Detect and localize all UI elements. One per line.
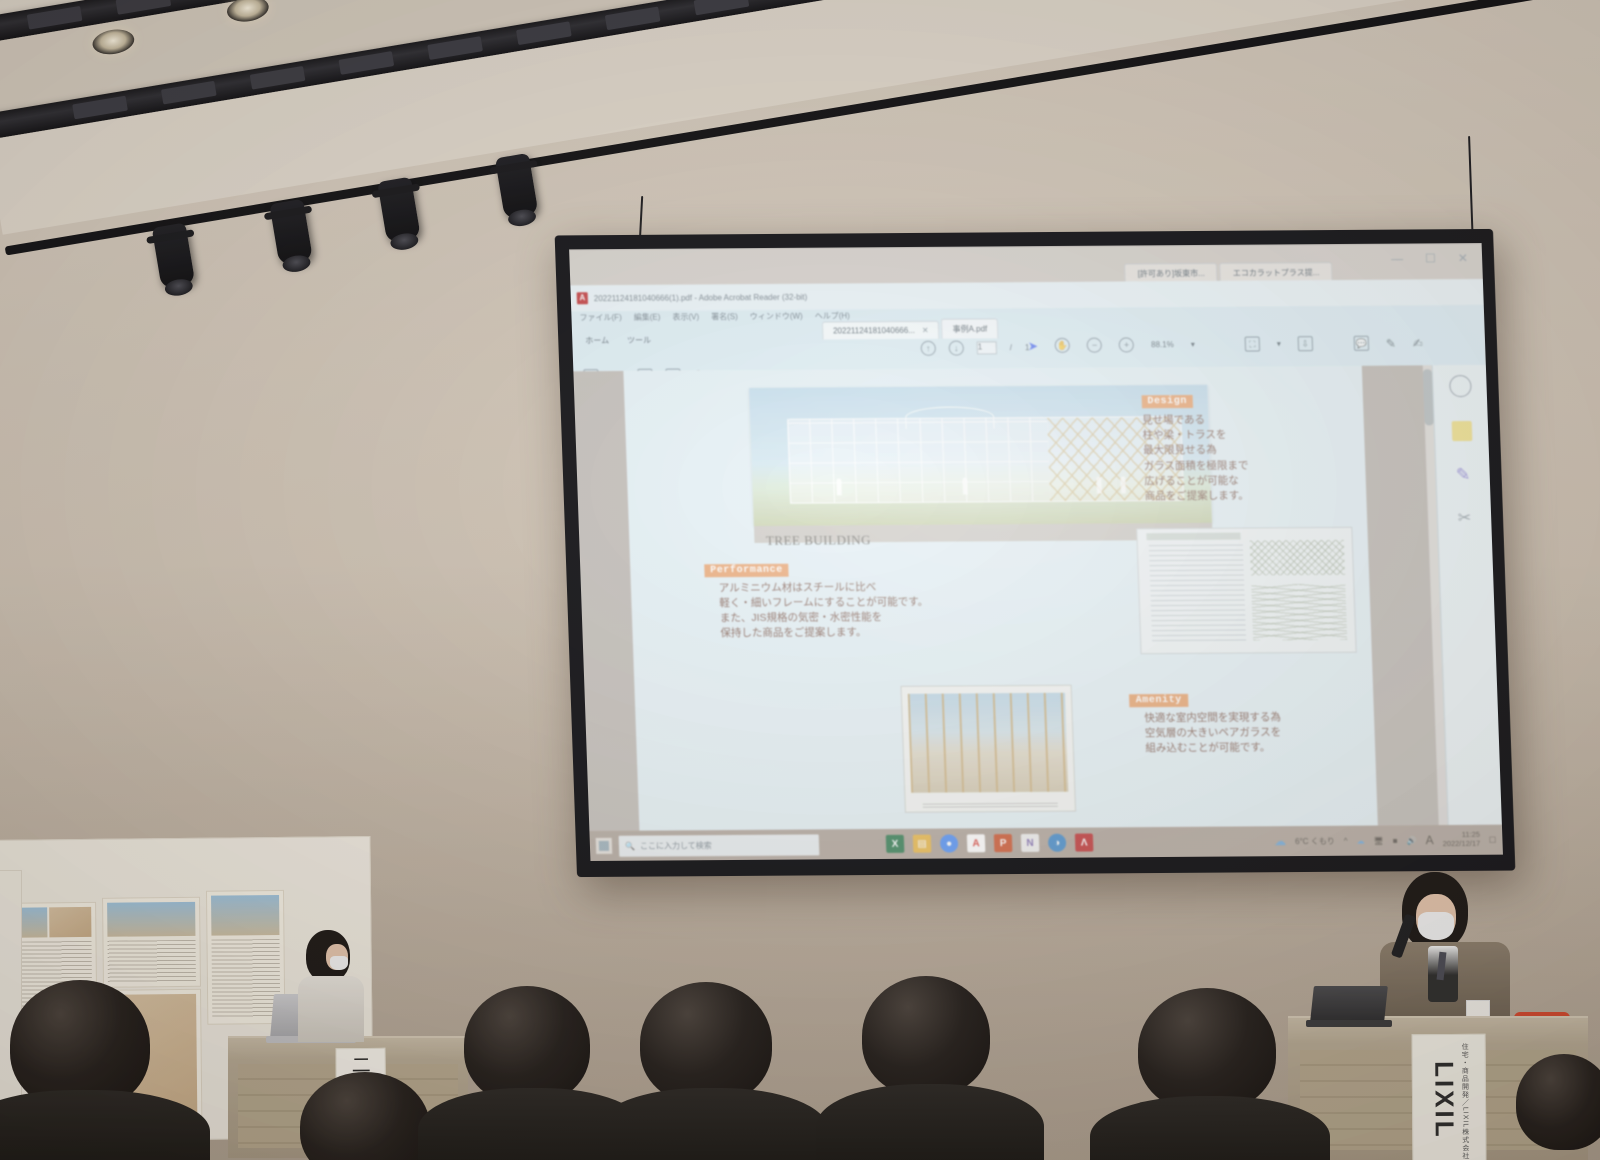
highlight-pen-icon[interactable]: ✎ xyxy=(1386,336,1397,350)
view-tool-bar: ➤ ✋ − + 88.1% ▾ xyxy=(1028,337,1195,353)
block-performance: Performance アルミニウム材はスチールに比べ 軽く・細いフレームにする… xyxy=(704,556,1091,642)
pdf-page: TREE BUILDING Design 見せ場である 柱や梁・トラスを 最大限… xyxy=(623,366,1377,831)
windows-taskbar: 🔍 ここに入力して検索 X ▤ ● A P N ◑ Λ ☁ xyxy=(589,825,1502,861)
clock[interactable]: 11:25 2022/12/17 xyxy=(1442,831,1480,849)
zoom-in-icon[interactable]: + xyxy=(1119,337,1135,352)
poster-item xyxy=(102,897,201,988)
ime-icon[interactable]: A xyxy=(1425,833,1434,847)
battery-icon[interactable]: ■ xyxy=(1393,836,1398,845)
badge-performance: Performance xyxy=(704,563,789,577)
page-navigation-bar: ↑ ↓ 1 / 1 xyxy=(921,340,1030,356)
menu-file[interactable]: ファイル(F) xyxy=(579,311,622,322)
design-text: 見せ場である 柱や梁・トラスを 最大限見せる為 ガラス面積を極限まで 広げること… xyxy=(1142,412,1352,505)
chevron-down-icon[interactable]: ▾ xyxy=(1277,339,1281,348)
close-icon[interactable]: ✕ xyxy=(922,326,929,335)
add-comment-icon[interactable] xyxy=(1451,421,1472,441)
structure-detail-sheet xyxy=(1136,527,1356,655)
close-button[interactable]: ✕ xyxy=(1458,251,1469,265)
edge-icon[interactable]: ◑ xyxy=(1048,834,1067,852)
stage-spotlight xyxy=(152,223,196,290)
search-icon: 🔍 xyxy=(625,841,635,850)
zoom-out-icon[interactable]: − xyxy=(1087,338,1103,353)
page-separator: / xyxy=(1010,343,1013,352)
interior-atrium-rendering xyxy=(900,685,1076,812)
banner-sub: 住宅・商品開発／LIXIL株式会社 xyxy=(1459,1043,1470,1160)
window-title: 20221124181040666(1).pdf - Adobe Acrobat… xyxy=(594,292,808,302)
comment-icon[interactable]: 💬 xyxy=(1353,336,1369,351)
maximize-button[interactable]: ☐ xyxy=(1425,251,1436,265)
pdf-sheet: TREE BUILDING Design 見せ場である 柱や梁・トラスを 最大限… xyxy=(623,366,1377,831)
tab-tools[interactable]: ツール xyxy=(618,332,661,349)
audience-shoulders xyxy=(1090,1096,1330,1160)
stage-spotlight xyxy=(269,199,313,266)
search-input[interactable]: 🔍 ここに入力して検索 xyxy=(619,834,820,856)
cloud-icon: ☁ xyxy=(1274,834,1286,848)
clock-date: 2022/12/17 xyxy=(1443,840,1481,849)
acrobat-logo-icon: A xyxy=(577,292,588,304)
menu-sign[interactable]: 署名(S) xyxy=(711,311,738,322)
badge-design: Design xyxy=(1141,395,1193,408)
acrobat-window: A 20221124181040666(1).pdf - Adobe Acrob… xyxy=(570,279,1501,831)
annotate-tool-bar: 💬 ✎ ✍ xyxy=(1353,335,1423,350)
banner-brand: LIXIL xyxy=(1428,1061,1460,1140)
pdf-viewport[interactable]: TREE BUILDING Design 見せ場である 柱や梁・トラスを 最大限… xyxy=(573,365,1447,831)
amenity-text: 快適な室内空間を実現する為 空気層の大きいペアガラスを 組み込むことが可能です。 xyxy=(1130,710,1368,757)
sign-icon[interactable]: ✍ xyxy=(1413,336,1424,350)
audience-head xyxy=(640,982,772,1104)
menu-bar: ファイル(F) 編集(E) 表示(V) 署名(S) ウィンドウ(W) ヘルプ(H… xyxy=(571,307,850,325)
search-placeholder: ここに入力して検索 xyxy=(640,840,712,851)
audience-head xyxy=(1516,1054,1600,1150)
weather-text[interactable]: 6°C くもり xyxy=(1295,835,1335,846)
projection-screen: — ☐ ✕ [許可あり]坂東市... エコカラットプラス提... A 20221… xyxy=(555,229,1516,877)
page-number-input[interactable]: 1 xyxy=(977,341,997,354)
display-tool-bar: ⛶ ▾ ⇩ xyxy=(1245,336,1314,351)
fit-page-icon[interactable]: ⛶ xyxy=(1245,337,1261,352)
tab-home[interactable]: ホーム xyxy=(576,332,618,349)
chrome-icon[interactable]: ● xyxy=(940,834,959,852)
search-document-icon[interactable] xyxy=(1449,375,1472,397)
photo-scene: — ☐ ✕ [許可あり]坂東市... エコカラットプラス提... A 20221… xyxy=(0,0,1600,1160)
doc-tab-jirei[interactable]: 事例A.pdf xyxy=(941,318,998,338)
edit-pdf-icon[interactable]: ✂ xyxy=(1454,509,1475,529)
chevron-down-icon[interactable]: ▾ xyxy=(1191,340,1195,349)
poster-board xyxy=(0,870,22,1122)
performance-text: アルミニウム材はスチールに比べ 軽く・細いフレームにすることが可能です。 また、… xyxy=(705,578,1091,642)
network-icon[interactable]: 🖥 xyxy=(1373,836,1383,845)
stage-spotlight xyxy=(377,177,421,244)
acrobat-pro-icon[interactable]: A xyxy=(967,834,986,852)
onenote-icon[interactable]: N xyxy=(1021,834,1040,852)
onedrive-icon[interactable]: ☁ xyxy=(1356,836,1364,845)
notification-icon[interactable]: ☐ xyxy=(1489,835,1496,844)
presenter-laptop-base xyxy=(1306,1020,1392,1027)
powerpoint-icon[interactable]: P xyxy=(994,834,1013,852)
block-design: Design 見せ場である 柱や梁・トラスを 最大限見せる為 ガラス面積を極限ま… xyxy=(1141,389,1352,505)
audience-head xyxy=(464,986,590,1104)
block-amenity: Amenity 快適な室内空間を実現する為 空気層の大きいペアガラスを 組み込む… xyxy=(1129,688,1368,757)
doc-tab-active[interactable]: 20221124181040666... ✕ xyxy=(822,321,940,340)
lixil-banner: LIXIL 住宅・商品開発／LIXIL株式会社 xyxy=(1412,1034,1487,1160)
menu-view[interactable]: 表示(V) xyxy=(672,311,699,322)
minimize-button[interactable]: — xyxy=(1391,252,1403,266)
acrobat-reader-icon[interactable]: Λ xyxy=(1075,833,1094,851)
volume-icon[interactable]: 🔊 xyxy=(1406,836,1416,845)
audience-shoulders xyxy=(816,1084,1044,1160)
doc-tab-label: 事例A.pdf xyxy=(952,323,987,334)
doc-tab-label: 20221124181040666... xyxy=(833,326,915,336)
arrow-up-icon[interactable]: ↑ xyxy=(921,341,937,356)
acrobat-title-bar: A 20221124181040666(1).pdf - Adobe Acrob… xyxy=(570,279,1483,311)
presenter-laptop-screen xyxy=(1310,986,1388,1022)
screen-surface: — ☐ ✕ [許可あり]坂東市... エコカラットプラス提... A 20221… xyxy=(569,243,1503,861)
audience-head xyxy=(1138,988,1276,1112)
document-tab-strip: 20221124181040666... ✕ 事例A.pdf xyxy=(822,318,999,339)
badge-amenity: Amenity xyxy=(1129,694,1188,707)
stage-spotlight xyxy=(495,153,539,220)
page-display-icon[interactable]: ⇩ xyxy=(1298,336,1314,351)
windows-desktop: — ☐ ✕ [許可あり]坂東市... エコカラットプラス提... A 20221… xyxy=(569,243,1503,861)
zoom-level[interactable]: 88.1% xyxy=(1151,340,1174,349)
audience-shoulders xyxy=(596,1088,828,1160)
audience-head xyxy=(862,976,990,1096)
taskbar-pinned-apps: X ▤ ● A P N ◑ Λ xyxy=(886,833,1094,852)
chevron-up-icon[interactable]: ^ xyxy=(1344,836,1348,845)
menu-edit[interactable]: 編集(E) xyxy=(634,311,661,322)
cursor-icon[interactable]: ➤ xyxy=(1028,339,1039,353)
system-tray: ☁ 6°C くもり ^ ☁ 🖥 ■ 🔊 A 11:25 2022/12/17 ☐ xyxy=(1274,831,1497,850)
arrow-down-icon[interactable]: ↓ xyxy=(949,341,965,356)
seated-operator-with-laptop xyxy=(300,930,370,1040)
building-render xyxy=(787,416,1184,504)
photos-icon[interactable]: ▤ xyxy=(913,835,932,853)
menu-window[interactable]: ウィンドウ(W) xyxy=(750,310,803,321)
windows-start-icon[interactable] xyxy=(596,838,613,854)
excel-icon[interactable]: X xyxy=(886,835,905,853)
fill-and-sign-icon[interactable]: ✎ xyxy=(1453,465,1474,485)
hand-icon[interactable]: ✋ xyxy=(1055,338,1071,353)
